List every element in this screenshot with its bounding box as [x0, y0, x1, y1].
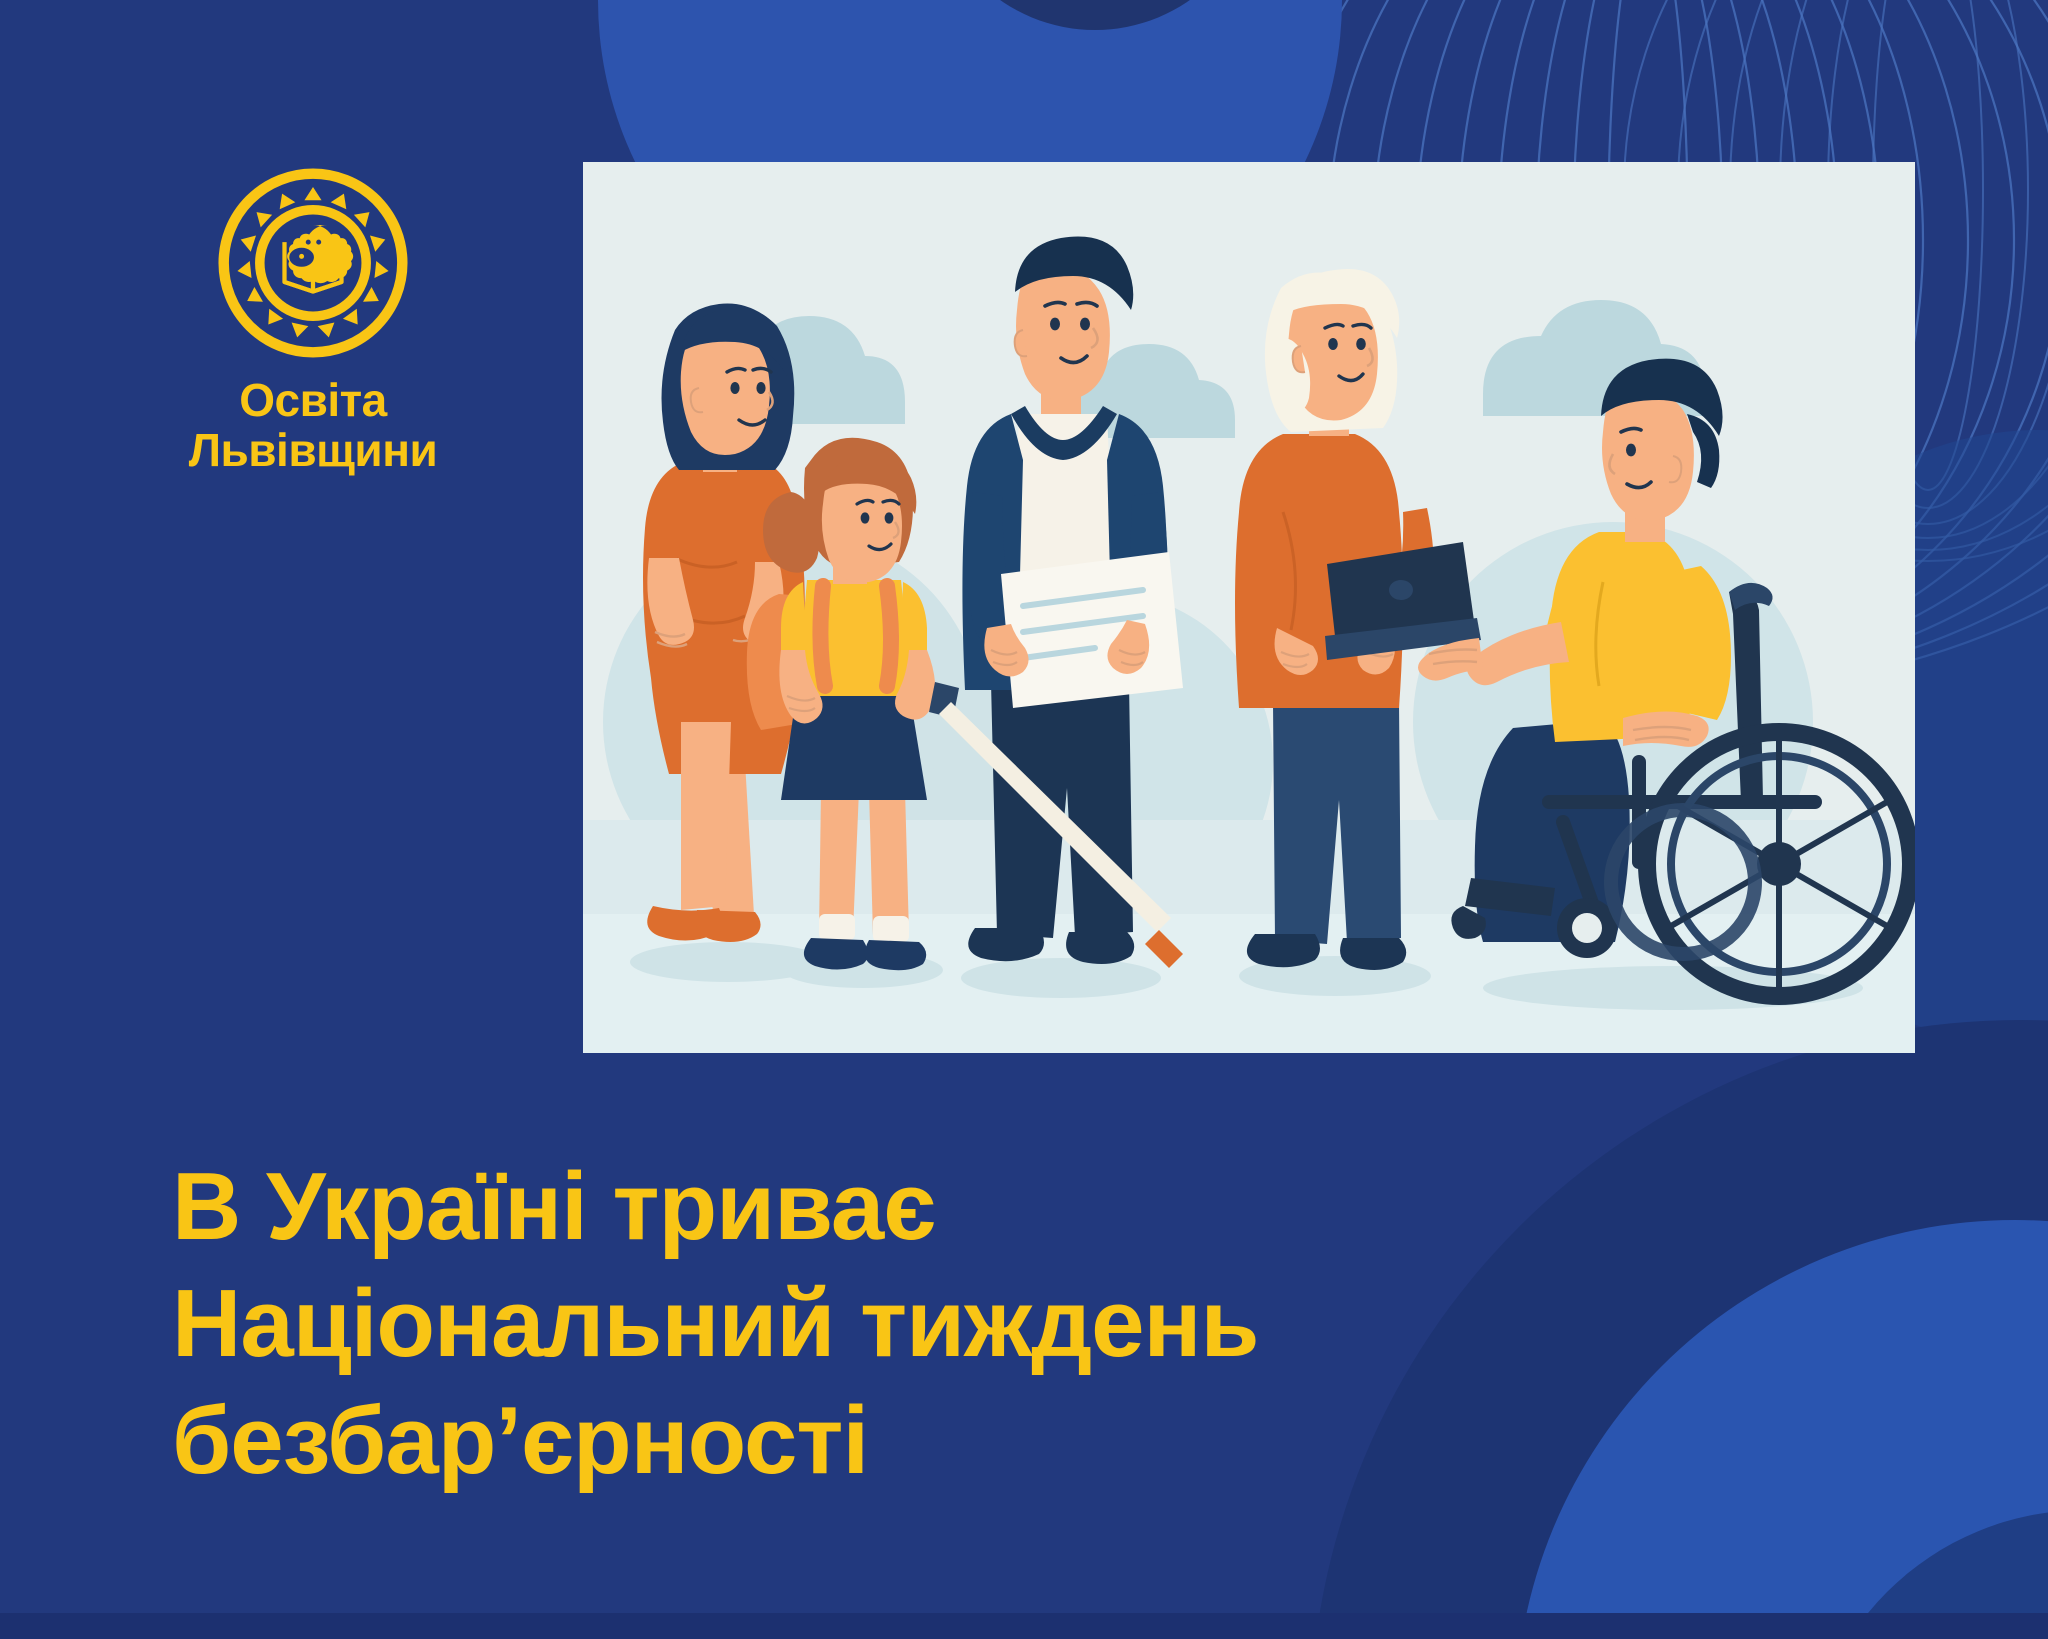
lion-head-over-open-book-emblem [218, 168, 408, 358]
logo-line-2: Львівщини [189, 424, 438, 476]
headline-line-1: В Україні триває [172, 1148, 1652, 1265]
decor-circle-top-inner [930, 0, 1260, 30]
headline-line-3: безбар’єрності [172, 1382, 1652, 1499]
document-sheet [1001, 552, 1183, 708]
poster-canvas: Освіта Львівщини [0, 0, 2048, 1639]
decor-ring-inner [1805, 1510, 2048, 1639]
inclusive-people-illustration [583, 162, 1915, 1053]
logo-line-1: Освіта [239, 374, 387, 426]
logo-wordmark: Освіта Львівщини [189, 376, 438, 475]
page-title: В Україні триває Національний тиждень бе… [172, 1148, 1652, 1499]
illustration-panel [583, 162, 1915, 1053]
headline-line-2: Національний тиждень [172, 1265, 1652, 1382]
decor-bottom-strip [0, 1613, 2048, 1639]
logo-block: Освіта Львівщини [148, 168, 478, 475]
